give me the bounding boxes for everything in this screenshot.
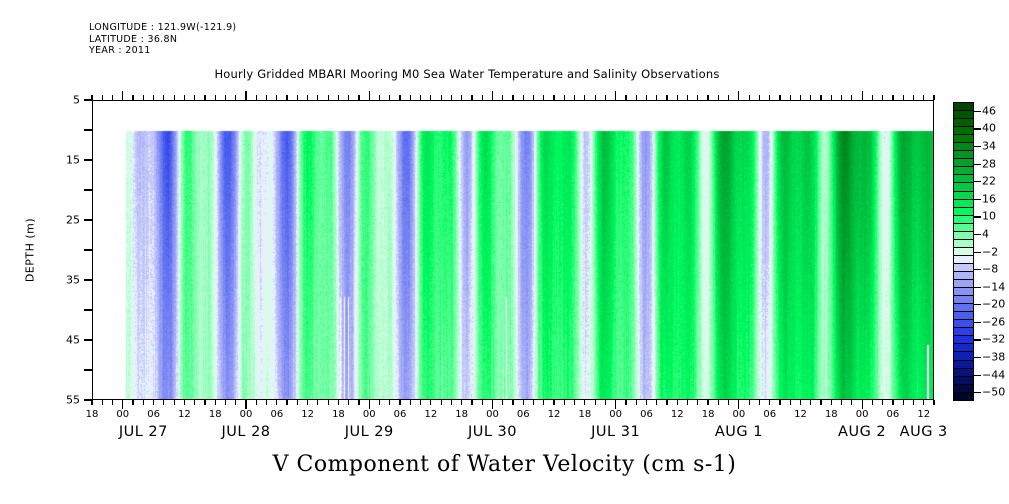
x-axis-minor-tick-bottom (143, 400, 144, 405)
x-axis-minor-tick-bottom (933, 400, 934, 405)
x-axis-minor-tick-bottom (769, 400, 770, 405)
y-axis-tick-label: 45 (54, 334, 80, 347)
x-axis-minor-tick-top (307, 95, 308, 100)
x-axis-minor-tick-bottom (656, 400, 657, 405)
x-axis-minor-tick-top (666, 95, 667, 100)
x-axis-minor-tick-bottom (451, 400, 452, 405)
x-axis-minor-tick-top (656, 95, 657, 100)
colorbar-band (954, 103, 973, 111)
x-axis-hour-label: 00 (733, 409, 746, 420)
x-axis-minor-tick-bottom (215, 400, 216, 405)
x-axis-minor-tick-bottom (482, 400, 483, 405)
x-axis-minor-tick-bottom (441, 400, 442, 405)
x-axis-hour-label: 18 (825, 409, 838, 420)
x-axis-minor-tick-bottom (225, 400, 226, 405)
x-axis-minor-tick-top (112, 95, 113, 100)
x-axis-minor-tick-top (923, 95, 924, 100)
x-axis-hour-label: 12 (794, 409, 807, 420)
colorbar (953, 102, 974, 401)
x-axis-minor-tick-bottom (102, 400, 103, 405)
colorbar-tick (974, 111, 981, 112)
x-axis-minor-tick-top (718, 95, 719, 100)
colorbar-band (954, 264, 973, 272)
x-axis-minor-tick-bottom (153, 400, 154, 405)
colorbar-tick (974, 199, 981, 200)
x-axis-minor-tick-bottom (307, 400, 308, 405)
x-axis-minor-tick-bottom (595, 400, 596, 405)
x-axis-minor-tick-top (256, 95, 257, 100)
x-axis-minor-tick-top (266, 95, 267, 100)
x-axis-day-label: AUG 3 (900, 424, 948, 440)
x-axis-minor-tick-top (184, 95, 185, 100)
x-axis-minor-tick-bottom (174, 400, 175, 405)
x-axis-hour-label: 18 (332, 409, 345, 420)
x-axis-hour-label: 12 (424, 409, 437, 420)
colorbar-tick (974, 164, 981, 165)
x-axis-major-tick-bottom (738, 400, 739, 409)
colorbar-band (954, 304, 973, 312)
x-axis-minor-tick-top (461, 95, 462, 100)
y-axis-title: DEPTH (m) (24, 218, 37, 282)
x-axis-minor-tick-top (441, 95, 442, 100)
x-axis-minor-tick-top (276, 95, 277, 100)
x-axis-hour-label: 00 (856, 409, 869, 420)
heatmap-canvas (93, 101, 933, 399)
colorbar-band (954, 352, 973, 360)
x-axis-hour-label: 06 (394, 409, 407, 420)
x-axis-major-tick-top (492, 91, 493, 100)
x-axis-hour-label: 12 (548, 409, 561, 420)
x-axis-minor-tick-bottom (800, 400, 801, 405)
x-axis-minor-tick-top (543, 95, 544, 100)
x-axis-minor-tick-top (677, 95, 678, 100)
x-axis-hour-label: 06 (517, 409, 530, 420)
colorbar-tick (974, 304, 981, 305)
x-axis-minor-tick-top (523, 95, 524, 100)
x-axis-minor-tick-bottom (903, 400, 904, 405)
x-axis-minor-tick-bottom (687, 400, 688, 405)
x-axis-minor-tick-top (831, 95, 832, 100)
x-axis-hour-label: 12 (178, 409, 191, 420)
x-axis-minor-tick-bottom (625, 400, 626, 405)
latitude-text: LATITUDE : 36.8N (89, 34, 177, 45)
x-axis-minor-tick-bottom (410, 400, 411, 405)
colorbar-band (954, 393, 973, 400)
x-axis-minor-tick-bottom (379, 400, 380, 405)
y-axis-tick-label: 15 (54, 154, 80, 167)
x-axis-minor-tick-bottom (471, 400, 472, 405)
colorbar-band (954, 111, 973, 119)
y-axis-minor-tick (84, 129, 92, 130)
colorbar-tick (974, 252, 981, 253)
x-axis-major-tick-top (369, 91, 370, 100)
x-axis-day-label: JUL 28 (222, 424, 271, 440)
x-axis-minor-tick-top (163, 95, 164, 100)
x-axis-minor-tick-top (358, 95, 359, 100)
x-axis-major-tick-top (245, 91, 246, 100)
colorbar-tick (974, 181, 981, 182)
colorbar-band (954, 377, 973, 385)
colorbar-band (954, 200, 973, 208)
colorbar-tick (974, 128, 981, 129)
y-axis-tick (84, 279, 92, 280)
x-axis-minor-tick-top (810, 95, 811, 100)
x-axis-hour-label: 18 (86, 409, 99, 420)
x-axis-minor-tick-top (174, 95, 175, 100)
colorbar-band (954, 280, 973, 288)
x-axis-major-tick-bottom (862, 400, 863, 409)
x-axis-minor-tick-bottom (317, 400, 318, 405)
x-axis-minor-tick-top (389, 95, 390, 100)
x-axis-minor-tick-top (410, 95, 411, 100)
x-axis-minor-tick-bottom (389, 400, 390, 405)
x-axis-minor-tick-bottom (831, 400, 832, 405)
colorbar-band (954, 344, 973, 352)
x-axis-minor-tick-top (215, 95, 216, 100)
x-axis-minor-tick-bottom (882, 400, 883, 405)
colorbar-tick-label: 28 (982, 157, 996, 170)
x-axis-major-tick-top (122, 91, 123, 100)
x-axis-minor-tick-top (933, 95, 934, 100)
x-axis-minor-tick-top (153, 95, 154, 100)
x-axis-minor-tick-bottom (91, 400, 92, 405)
y-axis-tick (84, 159, 92, 160)
colorbar-band (954, 216, 973, 224)
x-axis-minor-tick-top (769, 95, 770, 100)
x-axis-hour-label: 00 (240, 409, 253, 420)
colorbar-band (954, 119, 973, 127)
y-axis-minor-tick (84, 189, 92, 190)
x-axis-minor-tick-top (595, 95, 596, 100)
x-axis-minor-tick-bottom (759, 400, 760, 405)
x-axis-minor-tick-bottom (297, 400, 298, 405)
colorbar-tick-label: 22 (982, 175, 996, 188)
colorbar-tick (974, 234, 981, 235)
x-axis-minor-tick-top (328, 95, 329, 100)
x-axis-hour-label: 00 (609, 409, 622, 420)
x-axis-hour-label: 12 (917, 409, 930, 420)
x-axis-day-label: JUL 29 (345, 424, 394, 440)
colorbar-band (954, 208, 973, 216)
y-axis-tick (84, 339, 92, 340)
colorbar-tick-label: −2 (982, 245, 998, 258)
colorbar-tick-label: −14 (982, 280, 1005, 293)
x-axis-minor-tick-bottom (461, 400, 462, 405)
x-axis-hour-label: 06 (763, 409, 776, 420)
colorbar-band (954, 183, 973, 191)
colorbar-band (954, 369, 973, 377)
colorbar-tick-label: −26 (982, 315, 1005, 328)
x-axis-minor-tick-bottom (194, 400, 195, 405)
colorbar-tick (974, 392, 981, 393)
x-axis-minor-tick-top (471, 95, 472, 100)
x-axis-minor-tick-top (225, 95, 226, 100)
colorbar-band (954, 361, 973, 369)
x-axis-minor-tick-bottom (184, 400, 185, 405)
x-axis-minor-tick-bottom (553, 400, 554, 405)
colorbar-band (954, 151, 973, 159)
x-axis-minor-tick-top (574, 95, 575, 100)
x-axis-hour-label: 18 (579, 409, 592, 420)
colorbar-band (954, 256, 973, 264)
x-axis-minor-tick-top (646, 95, 647, 100)
x-axis-minor-tick-top (728, 95, 729, 100)
x-axis-hour-label: 12 (301, 409, 314, 420)
x-axis-minor-tick-top (584, 95, 585, 100)
x-axis-minor-tick-bottom (276, 400, 277, 405)
x-axis-minor-tick-top (872, 95, 873, 100)
x-axis-major-tick-bottom (492, 400, 493, 409)
x-axis-minor-tick-top (348, 95, 349, 100)
colorbar-band (954, 312, 973, 320)
x-axis-minor-tick-top (851, 95, 852, 100)
x-axis-major-tick-bottom (245, 400, 246, 409)
colorbar-band (954, 135, 973, 143)
colorbar-tick-label: −8 (982, 263, 998, 276)
chart-caption: V Component of Water Velocity (cm s-1) (0, 452, 1009, 477)
x-axis-minor-tick-bottom (399, 400, 400, 405)
x-axis-minor-tick-bottom (235, 400, 236, 405)
x-axis-minor-tick-top (892, 95, 893, 100)
colorbar-band (954, 224, 973, 232)
x-axis-hour-label: 00 (363, 409, 376, 420)
x-axis-minor-tick-bottom (913, 400, 914, 405)
x-axis-minor-tick-bottom (338, 400, 339, 405)
heatmap-plot-area (92, 100, 934, 400)
x-axis-minor-tick-bottom (718, 400, 719, 405)
x-axis-minor-tick-top (749, 95, 750, 100)
x-axis-minor-tick-top (841, 95, 842, 100)
x-axis-minor-tick-bottom (430, 400, 431, 405)
colorbar-band (954, 192, 973, 200)
colorbar-band (954, 288, 973, 296)
x-axis-minor-tick-bottom (286, 400, 287, 405)
x-axis-minor-tick-top (194, 95, 195, 100)
x-axis-minor-tick-top (297, 95, 298, 100)
x-axis-minor-tick-bottom (749, 400, 750, 405)
x-axis-minor-tick-bottom (204, 400, 205, 405)
x-axis-day-label: JUL 31 (591, 424, 640, 440)
x-axis-day-label: JUL 30 (468, 424, 517, 440)
y-axis-tick-label: 35 (54, 274, 80, 287)
x-axis-minor-tick-bottom (328, 400, 329, 405)
longitude-text: LONGITUDE : 121.9W(-121.9) (89, 22, 236, 33)
x-axis-minor-tick-top (759, 95, 760, 100)
colorbar-band (954, 232, 973, 240)
x-axis-minor-tick-bottom (872, 400, 873, 405)
y-axis-tick-label: 5 (54, 94, 80, 107)
x-axis-minor-tick-top (636, 95, 637, 100)
x-axis-minor-tick-bottom (851, 400, 852, 405)
x-axis-minor-tick-top (451, 95, 452, 100)
x-axis-minor-tick-bottom (358, 400, 359, 405)
colorbar-tick (974, 375, 981, 376)
x-axis-minor-tick-bottom (697, 400, 698, 405)
colorbar-band (954, 320, 973, 328)
y-axis-tick (84, 219, 92, 220)
x-axis-minor-tick-bottom (420, 400, 421, 405)
year-text: YEAR : 2011 (89, 45, 151, 56)
x-axis-major-tick-bottom (369, 400, 370, 409)
x-axis-minor-tick-top (820, 95, 821, 100)
colorbar-band (954, 328, 973, 336)
x-axis-hour-label: 00 (486, 409, 499, 420)
y-axis-minor-tick (84, 309, 92, 310)
x-axis-minor-tick-top (800, 95, 801, 100)
colorbar-band (954, 248, 973, 256)
x-axis-minor-tick-top (317, 95, 318, 100)
x-axis-minor-tick-top (707, 95, 708, 100)
x-axis-minor-tick-top (91, 95, 92, 100)
x-axis-minor-tick-bottom (923, 400, 924, 405)
colorbar-tick (974, 269, 981, 270)
colorbar-tick-label: 34 (982, 139, 996, 152)
x-axis-minor-tick-bottom (728, 400, 729, 405)
x-axis-major-tick-bottom (615, 400, 616, 409)
x-axis-minor-tick-bottom (543, 400, 544, 405)
x-axis-major-tick-top (615, 91, 616, 100)
colorbar-band (954, 167, 973, 175)
colorbar-tick-label: 16 (982, 192, 996, 205)
x-axis-minor-tick-bottom (533, 400, 534, 405)
x-axis-hour-label: 12 (671, 409, 684, 420)
x-axis-minor-tick-top (625, 95, 626, 100)
colorbar-tick-label: 10 (982, 210, 996, 223)
station-metadata: LONGITUDE : 121.9W(-121.9) LATITUDE : 36… (89, 22, 236, 57)
x-axis-day-label: AUG 2 (838, 424, 886, 440)
colorbar-band (954, 296, 973, 304)
x-axis-major-tick-top (862, 91, 863, 100)
x-axis-minor-tick-top (482, 95, 483, 100)
colorbar-tick-label: −44 (982, 368, 1005, 381)
x-axis-minor-tick-bottom (132, 400, 133, 405)
x-axis-day-label: AUG 1 (715, 424, 763, 440)
x-axis-minor-tick-bottom (790, 400, 791, 405)
x-axis-minor-tick-top (779, 95, 780, 100)
x-axis-hour-label: 00 (116, 409, 129, 420)
x-axis-minor-tick-top (564, 95, 565, 100)
x-axis-minor-tick-top (286, 95, 287, 100)
y-axis-minor-tick (84, 369, 92, 370)
x-axis-minor-tick-bottom (574, 400, 575, 405)
x-axis-minor-tick-top (903, 95, 904, 100)
x-axis-minor-tick-top (882, 95, 883, 100)
colorbar-band (954, 127, 973, 135)
colorbar-tick-label: 46 (982, 104, 996, 117)
colorbar-band (954, 385, 973, 393)
x-axis-minor-tick-bottom (266, 400, 267, 405)
x-axis-minor-tick-bottom (646, 400, 647, 405)
x-axis-minor-tick-bottom (163, 400, 164, 405)
x-axis-minor-tick-bottom (707, 400, 708, 405)
colorbar-tick-label: −38 (982, 351, 1005, 364)
x-axis-minor-tick-top (399, 95, 400, 100)
x-axis-minor-tick-top (512, 95, 513, 100)
colorbar-tick-label: −50 (982, 386, 1005, 399)
x-axis-minor-tick-bottom (677, 400, 678, 405)
x-axis-minor-tick-top (605, 95, 606, 100)
colorbar-tick (974, 287, 981, 288)
colorbar-band (954, 336, 973, 344)
x-axis-minor-tick-bottom (636, 400, 637, 405)
x-axis-minor-tick-top (913, 95, 914, 100)
x-axis-minor-tick-bottom (892, 400, 893, 405)
x-axis-minor-tick-top (533, 95, 534, 100)
x-axis-hour-label: 06 (887, 409, 900, 420)
x-axis-minor-tick-bottom (666, 400, 667, 405)
x-axis-minor-tick-top (235, 95, 236, 100)
x-axis-minor-tick-bottom (512, 400, 513, 405)
x-axis-minor-tick-top (420, 95, 421, 100)
colorbar-tick (974, 146, 981, 147)
x-axis-minor-tick-top (553, 95, 554, 100)
colorbar-tick (974, 322, 981, 323)
x-axis-minor-tick-bottom (605, 400, 606, 405)
x-axis-minor-tick-bottom (256, 400, 257, 405)
x-axis-minor-tick-bottom (779, 400, 780, 405)
x-axis-minor-tick-top (102, 95, 103, 100)
colorbar-band (954, 240, 973, 248)
x-axis-minor-tick-bottom (112, 400, 113, 405)
page-title: Hourly Gridded MBARI Mooring M0 Sea Wate… (0, 67, 934, 81)
x-axis-minor-tick-top (338, 95, 339, 100)
colorbar-tick-label: −20 (982, 298, 1005, 311)
x-axis-hour-label: 18 (209, 409, 222, 420)
colorbar-tick-label: −32 (982, 333, 1005, 346)
colorbar-band (954, 272, 973, 280)
x-axis-minor-tick-top (687, 95, 688, 100)
x-axis-major-tick-bottom (122, 400, 123, 409)
x-axis-hour-label: 18 (455, 409, 468, 420)
x-axis-minor-tick-bottom (523, 400, 524, 405)
x-axis-hour-label: 06 (147, 409, 160, 420)
x-axis-minor-tick-top (379, 95, 380, 100)
y-axis-tick-label: 55 (54, 394, 80, 407)
x-axis-major-tick-top (738, 91, 739, 100)
x-axis-minor-tick-top (132, 95, 133, 100)
x-axis-day-label: JUL 27 (119, 424, 168, 440)
x-axis-minor-tick-top (697, 95, 698, 100)
x-axis-hour-label: 06 (640, 409, 653, 420)
colorbar-band (954, 159, 973, 167)
x-axis-minor-tick-bottom (810, 400, 811, 405)
colorbar-tick-label: 40 (982, 122, 996, 135)
x-axis-minor-tick-top (143, 95, 144, 100)
colorbar-band (954, 175, 973, 183)
x-axis-minor-tick-top (430, 95, 431, 100)
colorbar-band (954, 143, 973, 151)
colorbar-tick (974, 357, 981, 358)
x-axis-minor-tick-bottom (841, 400, 842, 405)
x-axis-minor-tick-top (502, 95, 503, 100)
x-axis-hour-label: 18 (702, 409, 715, 420)
x-axis-minor-tick-bottom (502, 400, 503, 405)
x-axis-minor-tick-bottom (564, 400, 565, 405)
colorbar-tick-label: 4 (982, 227, 989, 240)
x-axis-minor-tick-bottom (820, 400, 821, 405)
colorbar-tick (974, 339, 981, 340)
x-axis-minor-tick-bottom (348, 400, 349, 405)
x-axis-hour-label: 06 (270, 409, 283, 420)
colorbar-tick (974, 216, 981, 217)
y-axis-minor-tick (84, 249, 92, 250)
x-axis-minor-tick-top (790, 95, 791, 100)
y-axis-tick-label: 25 (54, 214, 80, 227)
x-axis-minor-tick-top (204, 95, 205, 100)
x-axis-minor-tick-bottom (584, 400, 585, 405)
